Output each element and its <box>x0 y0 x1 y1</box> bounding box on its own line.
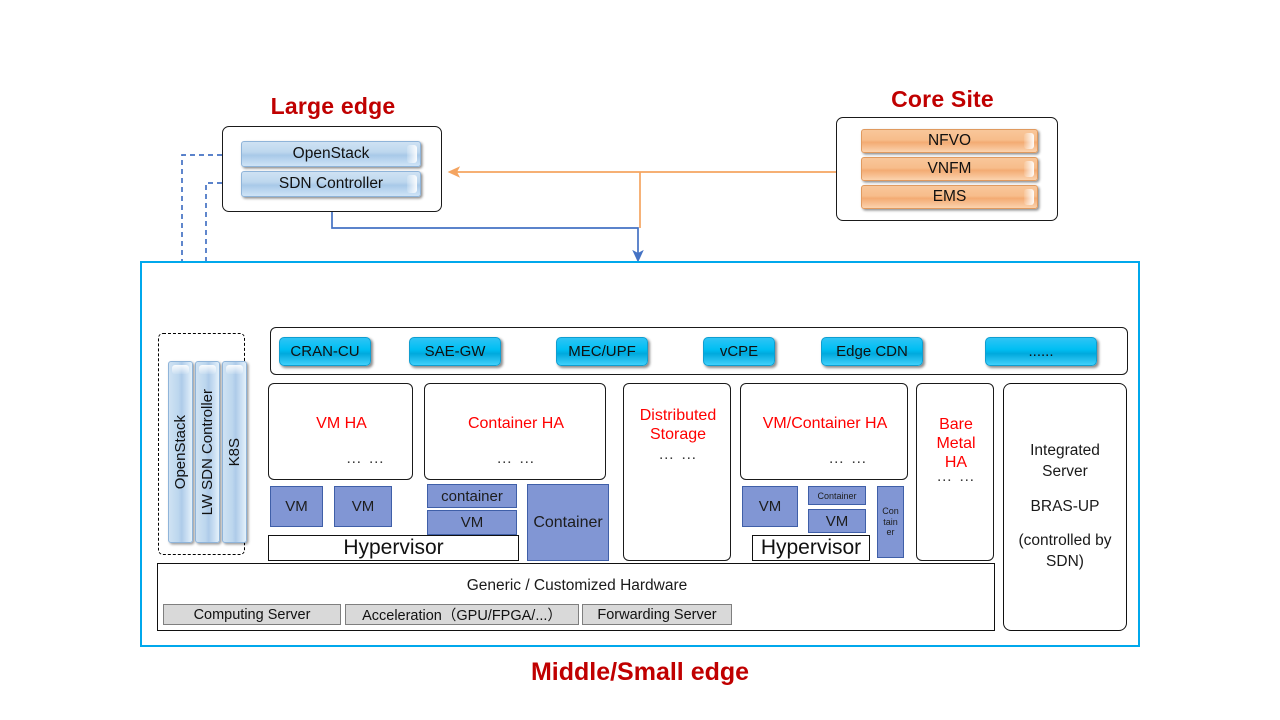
large-edge-title: Large edge <box>218 93 448 120</box>
integrated-server-line5: SDN) <box>1046 553 1084 570</box>
vnf-sae-gw-label: SAE-GW <box>425 343 486 360</box>
vnf-edge-cdn[interactable]: Edge CDN <box>821 337 923 366</box>
container-block-stacked-line2: tain <box>883 517 898 527</box>
integrated-server-name: Integrated Server <box>1030 441 1100 483</box>
vm-block-3[interactable]: VM <box>427 510 517 535</box>
core-site-title: Core Site <box>830 86 1055 113</box>
vm-block-4[interactable]: VM <box>742 486 798 527</box>
vnf-cran-cu-label: CRAN-CU <box>290 343 359 360</box>
card-vm-ha: VM HA … … <box>268 383 413 480</box>
card-container-ha-title: Container HA <box>425 415 607 434</box>
large-edge-bar-sdn-controller-label: SDN Controller <box>279 175 383 193</box>
vnf-vcpe-label: vCPE <box>720 343 758 360</box>
vnf-more-label: ...... <box>1028 343 1053 360</box>
hardware-forwarding-server-label: Forwarding Server <box>597 607 716 623</box>
hardware-acceleration-label: Acceleration（GPU/FPGA/...） <box>362 604 562 625</box>
container-block-large-label: Container <box>533 514 602 532</box>
vnf-vcpe[interactable]: vCPE <box>703 337 775 366</box>
vm-block-5[interactable]: VM <box>808 509 866 533</box>
vnf-more[interactable]: ...... <box>985 337 1097 366</box>
integrated-server-card: Integrated Server BRAS-UP (controlled by… <box>1003 383 1127 631</box>
large-edge-bar-openstack[interactable]: OpenStack <box>241 141 421 167</box>
vnf-strip: CRAN-CU SAE-GW MEC/UPF vCPE Edge CDN ...… <box>270 327 1128 375</box>
integrated-server-line4: (controlled by <box>1018 532 1111 549</box>
container-block-lower-label: container <box>441 488 503 505</box>
hypervisor-1: Hypervisor <box>268 535 519 561</box>
card-bare-metal-ha-dots: … … <box>917 468 995 486</box>
core-site-bar-ems-label: EMS <box>933 188 967 206</box>
large-edge-bar-openstack-label: OpenStack <box>293 145 370 163</box>
card-bare-metal-ha-title: Bare Metal HA <box>917 416 995 473</box>
diagram-canvas: Large edge OpenStack SDN Controller Core… <box>0 0 1280 720</box>
vnf-mec-upf[interactable]: MEC/UPF <box>556 337 648 366</box>
container-block-stacked[interactable]: Con tain er <box>877 486 904 558</box>
hardware-acceleration[interactable]: Acceleration（GPU/FPGA/...） <box>345 604 579 625</box>
vnf-edge-cdn-label: Edge CDN <box>836 343 908 360</box>
core-site-bar-vnfm-label: VNFM <box>928 160 972 178</box>
card-distributed-storage-title: Distributed Storage <box>624 407 732 445</box>
vm-block-2[interactable]: VM <box>334 486 392 527</box>
card-bare-metal-ha: Bare Metal HA … … <box>916 383 994 561</box>
container-block-small-label: Container <box>817 491 856 501</box>
hardware-title: Generic / Customized Hardware <box>158 577 996 595</box>
control-bar-k8s-label: K8S <box>226 438 243 466</box>
integrated-server-bras: BRAS-UP <box>1031 497 1100 518</box>
container-block-lower[interactable]: container <box>427 484 517 508</box>
hardware-panel: Generic / Customized Hardware Computing … <box>157 563 995 631</box>
card-container-ha: Container HA … … <box>424 383 606 480</box>
control-bar-openstack-label: OpenStack <box>172 415 189 489</box>
container-block-stacked-line3: er <box>886 527 894 537</box>
hardware-computing-server-label: Computing Server <box>194 607 311 623</box>
control-bar-lw-sdn-controller[interactable]: LW SDN Controller <box>195 361 220 543</box>
vm-block-2-label: VM <box>352 498 375 515</box>
card-distributed-storage-dots: … … <box>624 446 732 464</box>
hardware-computing-server[interactable]: Computing Server <box>163 604 341 625</box>
integrated-server-line2: Server <box>1042 463 1088 480</box>
middle-small-edge-title: Middle/Small edge <box>390 658 890 687</box>
core-site-panel: NFVO VNFM EMS <box>836 117 1058 221</box>
card-vm-container-ha-title: VM/Container HA <box>741 415 909 434</box>
hardware-forwarding-server[interactable]: Forwarding Server <box>582 604 732 625</box>
hypervisor-2: Hypervisor <box>752 535 870 561</box>
large-edge-bar-sdn-controller[interactable]: SDN Controller <box>241 171 421 197</box>
vnf-sae-gw[interactable]: SAE-GW <box>409 337 501 366</box>
integrated-server-line1: Integrated <box>1030 442 1100 459</box>
card-vm-ha-title: VM HA <box>269 415 414 434</box>
container-block-small[interactable]: Container <box>808 486 866 505</box>
hypervisor-2-label: Hypervisor <box>761 536 861 560</box>
container-block-large[interactable]: Container <box>527 484 609 561</box>
vm-block-3-label: VM <box>461 514 484 531</box>
integrated-server-note: (controlled by SDN) <box>1018 531 1111 573</box>
card-vm-container-ha: VM/Container HA … … <box>740 383 908 480</box>
vm-block-1-label: VM <box>285 498 308 515</box>
card-bare-metal-line1: Bare <box>939 416 973 433</box>
card-distributed-storage-line2: Storage <box>650 426 706 443</box>
card-distributed-storage: Distributed Storage … … <box>623 383 731 561</box>
core-site-bar-ems[interactable]: EMS <box>861 185 1038 209</box>
vm-block-4-label: VM <box>759 498 782 515</box>
core-site-bar-vnfm[interactable]: VNFM <box>861 157 1038 181</box>
card-bare-metal-line2: Metal <box>936 435 975 452</box>
control-bar-k8s[interactable]: K8S <box>222 361 247 543</box>
vm-block-5-label: VM <box>826 513 849 530</box>
core-site-bar-nfvo-label: NFVO <box>928 132 971 150</box>
hypervisor-1-label: Hypervisor <box>343 536 443 560</box>
vnf-mec-upf-label: MEC/UPF <box>568 343 636 360</box>
card-distributed-storage-line1: Distributed <box>640 407 716 424</box>
core-site-bar-nfvo[interactable]: NFVO <box>861 129 1038 153</box>
control-bar-lw-sdn-controller-label: LW SDN Controller <box>199 389 216 515</box>
vm-block-1[interactable]: VM <box>270 486 323 527</box>
vnf-cran-cu[interactable]: CRAN-CU <box>279 337 371 366</box>
card-vm-ha-dots: … … <box>269 450 414 468</box>
card-vm-container-ha-dots: … … <box>741 450 909 468</box>
container-block-stacked-line1: Con <box>882 506 899 516</box>
large-edge-panel: OpenStack SDN Controller <box>222 126 442 212</box>
card-container-ha-dots: … … <box>425 450 607 468</box>
control-bar-openstack[interactable]: OpenStack <box>168 361 193 543</box>
